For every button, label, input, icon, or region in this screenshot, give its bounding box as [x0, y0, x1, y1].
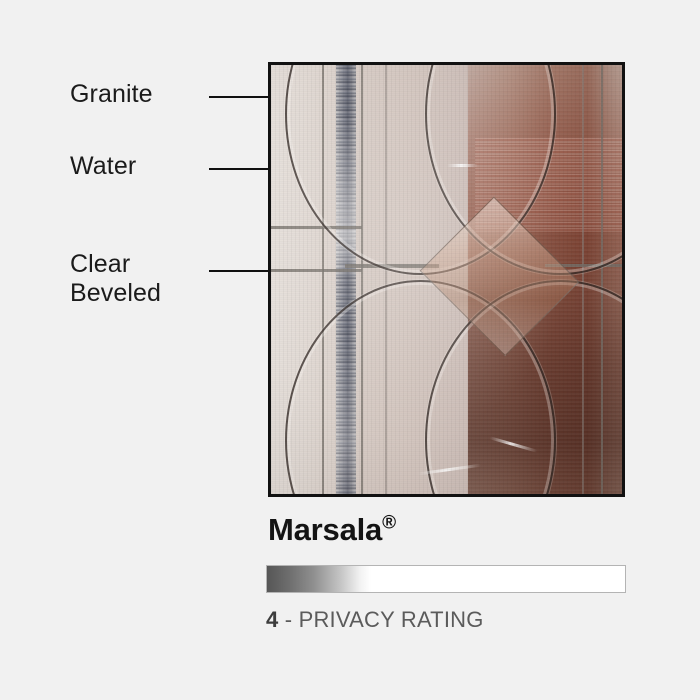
- glass-panel-inner: [271, 65, 622, 494]
- glass-panel-image: [268, 62, 625, 497]
- privacy-rating-caption: 4 - PRIVACY RATING: [266, 607, 484, 633]
- callout-label-granite: Granite: [70, 80, 153, 109]
- product-name-text: Marsala: [268, 512, 382, 547]
- callout-label-clear-beveled: Clear Beveled: [70, 250, 161, 308]
- illustration-stage: Granite Water Clear Beveled: [0, 0, 700, 700]
- callout-label-water: Water: [70, 152, 136, 181]
- privacy-rating-bar: [266, 565, 626, 593]
- privacy-rating-separator: -: [278, 607, 298, 632]
- privacy-rating-label: PRIVACY RATING: [299, 607, 484, 632]
- registered-trademark-icon: ®: [382, 513, 396, 534]
- product-title: Marsala®: [268, 512, 396, 548]
- glass-pixel-grain: [271, 65, 622, 494]
- privacy-rating-value: 4: [266, 607, 278, 632]
